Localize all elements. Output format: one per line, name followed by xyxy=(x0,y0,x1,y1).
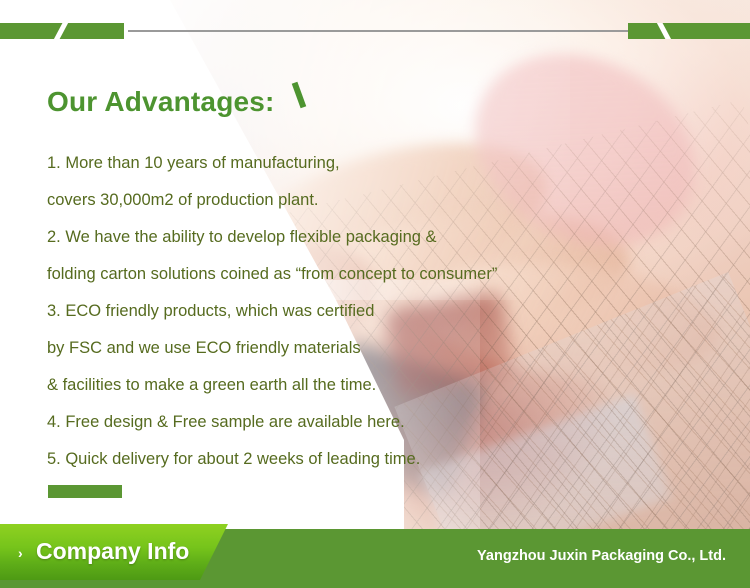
advantage-line: by FSC and we use ECO friendly materials xyxy=(47,330,517,367)
company-info-label: Company Info xyxy=(36,538,189,565)
advantage-line: folding carton solutions coined as “from… xyxy=(47,256,517,293)
advantages-banner: Our Advantages: 1. More than 10 years of… xyxy=(0,0,750,588)
header-divider-line xyxy=(128,30,634,32)
company-name: Yangzhou Juxin Packaging Co., Ltd. xyxy=(477,548,726,564)
advantage-line: 3. ECO friendly products, which was cert… xyxy=(47,293,517,330)
header-bar-right xyxy=(628,23,750,39)
advantage-line: 1. More than 10 years of manufacturing, xyxy=(47,145,517,182)
advantages-list: 1. More than 10 years of manufacturing, … xyxy=(47,145,517,478)
bar-slash-decor xyxy=(655,23,673,39)
bar-slash-decor xyxy=(51,23,69,39)
advantage-line: 5. Quick delivery for about 2 weeks of l… xyxy=(47,441,517,478)
advantage-line: covers 30,000m2 of production plant. xyxy=(47,182,517,219)
advantage-line: 2. We have the ability to develop flexib… xyxy=(47,219,517,256)
green-accent-tab xyxy=(48,485,122,498)
advantage-line: 4. Free design & Free sample are availab… xyxy=(47,404,517,441)
advantage-line: & facilities to make a green earth all t… xyxy=(47,367,517,404)
page-title: Our Advantages: xyxy=(47,86,275,118)
chevron-right-icon: › xyxy=(18,545,23,561)
header-bar-left xyxy=(0,23,124,39)
